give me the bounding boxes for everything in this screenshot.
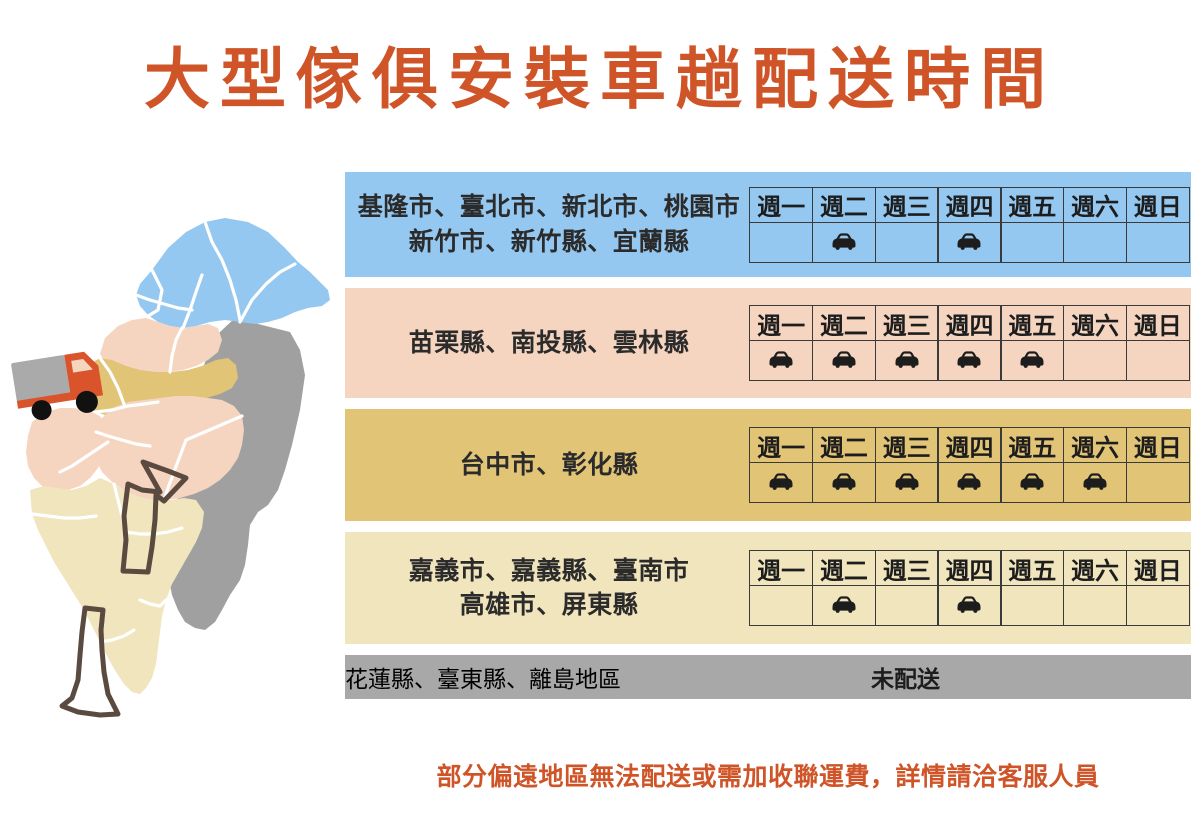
car-icon — [956, 233, 982, 252]
delivery-cell — [1063, 586, 1127, 626]
weekday-header-cell: 週二 — [812, 427, 876, 463]
region-label-no-delivery: 花蓮縣、臺東縣、離島地區 — [345, 660, 745, 694]
delivery-cell — [1000, 586, 1064, 626]
weekday-header-cell: 週四 — [937, 550, 1001, 586]
weekday-header-cell: 週六 — [1063, 427, 1127, 463]
weekday-header-cell: 週四 — [937, 305, 1001, 341]
weekday-header-cell: 週二 — [812, 305, 876, 341]
car-icon — [956, 473, 982, 492]
car-icon — [894, 351, 920, 370]
car-icon — [956, 351, 982, 370]
schedule-row-north: 基隆市、臺北市、新北市、桃園市 新竹市、新竹縣、宜蘭縣 週一 週二 週三 週四 … — [345, 172, 1191, 277]
region-label-north: 基隆市、臺北市、新北市、桃園市 新竹市、新竹縣、宜蘭縣 — [345, 190, 749, 259]
delivery-cell — [1063, 341, 1127, 381]
schedule-row-taichung: 台中市、彰化縣 週一 週二 週三 週四 週五 週六 週日 — [345, 409, 1191, 521]
car-icon — [768, 351, 794, 370]
weekday-delivery-row — [749, 341, 1190, 381]
schedule-row-no-delivery: 花蓮縣、臺東縣、離島地區 未配送 — [345, 655, 1191, 699]
weekday-table-south: 週一 週二 週三 週四 週五 週六 週日 — [749, 550, 1190, 626]
delivery-cell — [875, 586, 939, 626]
weekday-header-row: 週一 週二 週三 週四 週五 週六 週日 — [749, 550, 1190, 586]
delivery-cell — [937, 223, 1001, 263]
delivery-cell — [749, 341, 813, 381]
weekday-header-cell: 週日 — [1126, 550, 1190, 586]
region-label-taichung: 台中市、彰化縣 — [345, 448, 749, 483]
weekday-header-cell: 週四 — [937, 187, 1001, 223]
weekday-delivery-row — [749, 586, 1190, 626]
car-icon — [956, 596, 982, 615]
weekday-header-cell: 週五 — [1000, 187, 1064, 223]
weekday-header-cell: 週二 — [812, 187, 876, 223]
delivery-cell — [1126, 223, 1190, 263]
footer-note: 部分偏遠地區無法配送或需加收聯運費，詳情請洽客服人員 — [345, 757, 1191, 793]
weekday-header-cell: 週三 — [875, 305, 939, 341]
weekday-delivery-row — [749, 223, 1190, 263]
region-label-central-counties: 苗栗縣、南投縣、雲林縣 — [345, 326, 749, 361]
weekday-header-cell: 週日 — [1126, 305, 1190, 341]
status-no-delivery: 未配送 — [745, 660, 1186, 694]
delivery-cell — [1063, 463, 1127, 503]
delivery-cell — [1126, 586, 1190, 626]
weekday-header-row: 週一 週二 週三 週四 週五 週六 週日 — [749, 305, 1190, 341]
weekday-header-cell: 週三 — [875, 427, 939, 463]
weekday-header-cell: 週日 — [1126, 187, 1190, 223]
delivery-cell — [749, 463, 813, 503]
region-label-line2: 高雄市、屏東縣 — [349, 588, 749, 623]
delivery-cell — [812, 463, 876, 503]
car-icon — [831, 233, 857, 252]
weekday-table-central-counties: 週一 週二 週三 週四 週五 週六 週日 — [749, 305, 1190, 381]
weekday-delivery-row — [749, 463, 1190, 503]
car-icon — [1019, 473, 1045, 492]
delivery-cell — [937, 463, 1001, 503]
car-icon — [831, 351, 857, 370]
delivery-cell — [1063, 223, 1127, 263]
weekday-header-row: 週一 週二 週三 週四 週五 週六 週日 — [749, 187, 1190, 223]
weekday-header-cell: 週二 — [812, 550, 876, 586]
delivery-cell — [812, 341, 876, 381]
weekday-header-cell: 週一 — [749, 305, 813, 341]
car-icon — [831, 596, 857, 615]
infographic-page: 大型傢俱安裝車趟配送時間 — [0, 0, 1200, 834]
weekday-header-cell: 週六 — [1063, 305, 1127, 341]
weekday-header-cell: 週一 — [749, 550, 813, 586]
weekday-header-row: 週一 週二 週三 週四 週五 週六 週日 — [749, 427, 1190, 463]
weekday-header-cell: 週四 — [937, 427, 1001, 463]
delivery-cell — [1000, 463, 1064, 503]
weekday-header-cell: 週一 — [749, 427, 813, 463]
region-label-line1: 基隆市、臺北市、新北市、桃園市 — [349, 190, 749, 225]
delivery-cell — [749, 586, 813, 626]
weekday-header-cell: 週五 — [1000, 305, 1064, 341]
page-title: 大型傢俱安裝車趟配送時間 — [0, 44, 1200, 117]
delivery-cell — [875, 223, 939, 263]
region-label-line1: 苗栗縣、南投縣、雲林縣 — [349, 326, 749, 361]
delivery-cell — [937, 341, 1001, 381]
region-label-south: 嘉義市、嘉義縣、臺南市 高雄市、屏東縣 — [345, 554, 749, 623]
region-label-line1: 台中市、彰化縣 — [349, 448, 749, 483]
weekday-header-cell: 週六 — [1063, 550, 1127, 586]
delivery-cell — [875, 463, 939, 503]
region-label-line2: 新竹市、新竹縣、宜蘭縣 — [349, 225, 749, 260]
weekday-header-cell: 週三 — [875, 550, 939, 586]
weekday-header-cell: 週三 — [875, 187, 939, 223]
weekday-header-cell: 週六 — [1063, 187, 1127, 223]
weekday-header-cell: 週五 — [1000, 550, 1064, 586]
schedule-row-central-counties: 苗栗縣、南投縣、雲林縣 週一 週二 週三 週四 週五 週六 週日 — [345, 288, 1191, 398]
car-icon — [831, 473, 857, 492]
car-icon — [894, 473, 920, 492]
delivery-cell — [1000, 341, 1064, 381]
delivery-cell — [937, 586, 1001, 626]
delivery-cell — [1000, 223, 1064, 263]
weekday-header-cell: 週日 — [1126, 427, 1190, 463]
weekday-table-north: 週一 週二 週三 週四 週五 週六 週日 — [749, 187, 1190, 263]
schedule-row-south: 嘉義市、嘉義縣、臺南市 高雄市、屏東縣 週一 週二 週三 週四 週五 週六 週日 — [345, 532, 1191, 644]
weekday-header-cell: 週一 — [749, 187, 813, 223]
delivery-cell — [875, 341, 939, 381]
taiwan-map — [0, 160, 350, 740]
map-region-north-blue — [136, 218, 330, 328]
car-icon — [1019, 351, 1045, 370]
car-icon — [1082, 473, 1108, 492]
delivery-cell — [749, 223, 813, 263]
car-icon — [768, 473, 794, 492]
weekday-table-taichung: 週一 週二 週三 週四 週五 週六 週日 — [749, 427, 1190, 503]
delivery-cell — [812, 223, 876, 263]
weekday-header-cell: 週五 — [1000, 427, 1064, 463]
map-regions — [26, 218, 330, 694]
delivery-cell — [1126, 463, 1190, 503]
delivery-cell — [812, 586, 876, 626]
region-label-line1: 嘉義市、嘉義縣、臺南市 — [349, 554, 749, 589]
delivery-cell — [1126, 341, 1190, 381]
schedule-rows: 基隆市、臺北市、新北市、桃園市 新竹市、新竹縣、宜蘭縣 週一 週二 週三 週四 … — [345, 172, 1191, 699]
